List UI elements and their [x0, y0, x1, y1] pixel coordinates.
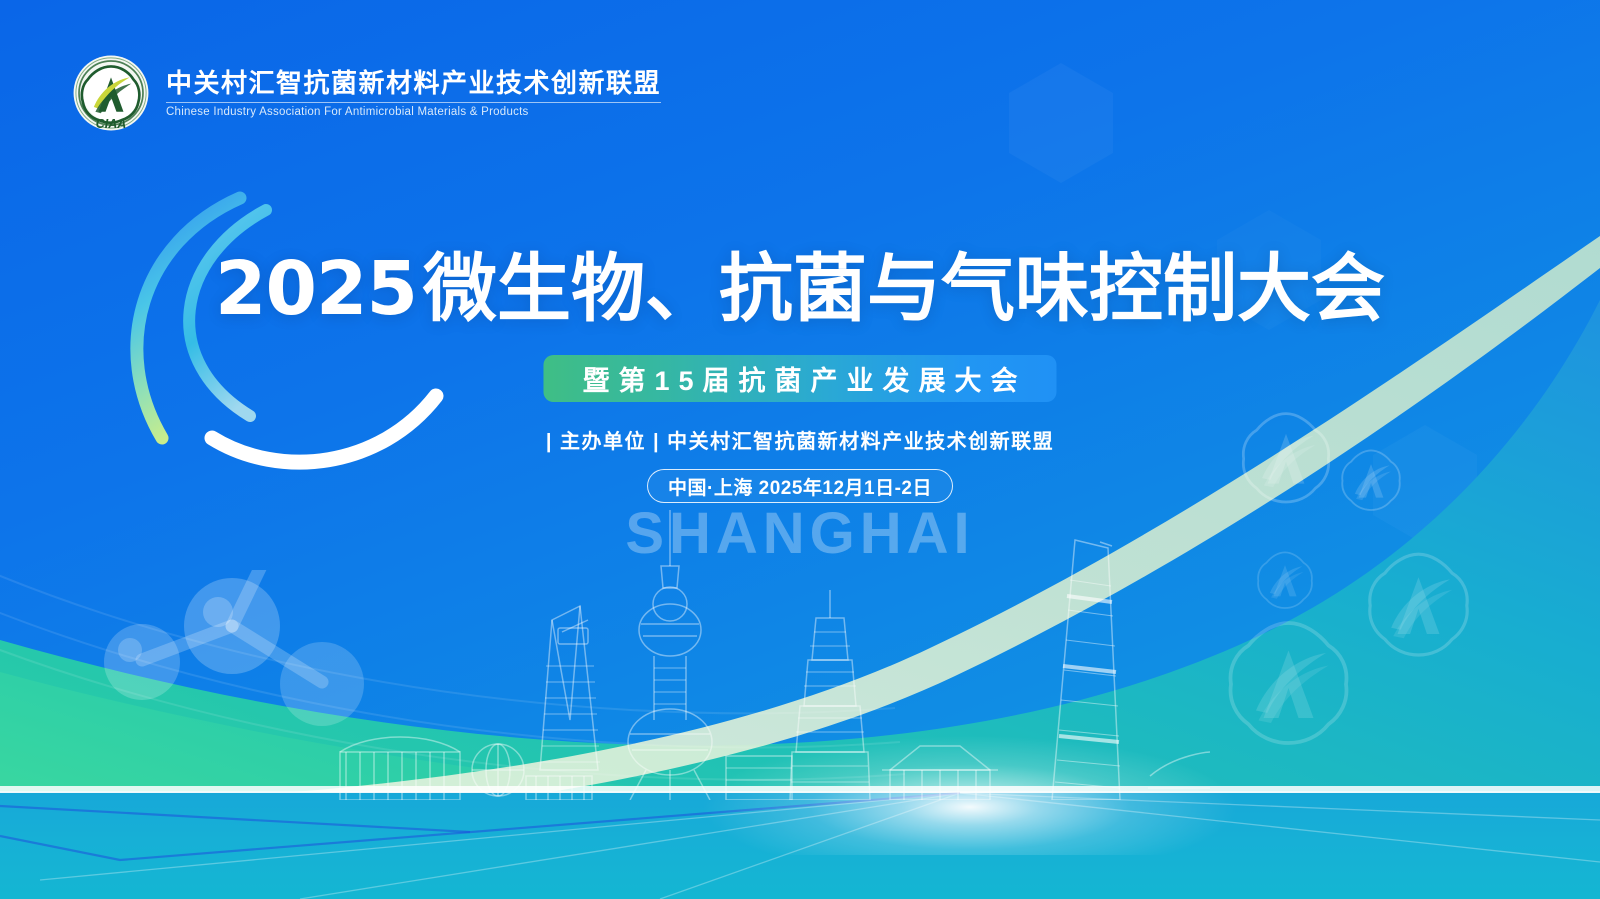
subtitle-badge: 暨第15届抗菌产业发展大会 — [543, 355, 1056, 402]
ciaa-star-emblem-icon: CIAA — [72, 54, 150, 132]
logo-divider — [166, 102, 661, 103]
shanghai-skyline-lineart — [330, 470, 1210, 800]
association-logo-block[interactable]: CIAA 中关村汇智抗菌新材料产业技术创新联盟 Chinese Industry… — [72, 54, 661, 132]
page-title: 2025微生物、抗菌与气味控制大会 — [0, 252, 1600, 326]
association-name-en: Chinese Industry Association For Antimic… — [166, 106, 661, 120]
ciaa-star-watermark-group — [1180, 400, 1600, 780]
conference-banner: SHANGHAI CIAA 中关村汇智抗菌新材料产业技术创新联盟 Chinese… — [0, 0, 1600, 899]
title-main: 微生物、抗菌与气味控制大会 — [423, 247, 1385, 330]
svg-text:CIAA: CIAA — [96, 117, 126, 131]
organizer-line: | 主办单位 | 中关村汇智抗菌新材料产业技术创新联盟 — [0, 425, 1600, 454]
title-year: 2025 — [215, 246, 417, 332]
association-name-cn: 中关村汇智抗菌新材料产业技术创新联盟 — [166, 69, 661, 99]
date-location-badge: 中国·上海 2025年12月1日-2日 — [647, 469, 953, 503]
